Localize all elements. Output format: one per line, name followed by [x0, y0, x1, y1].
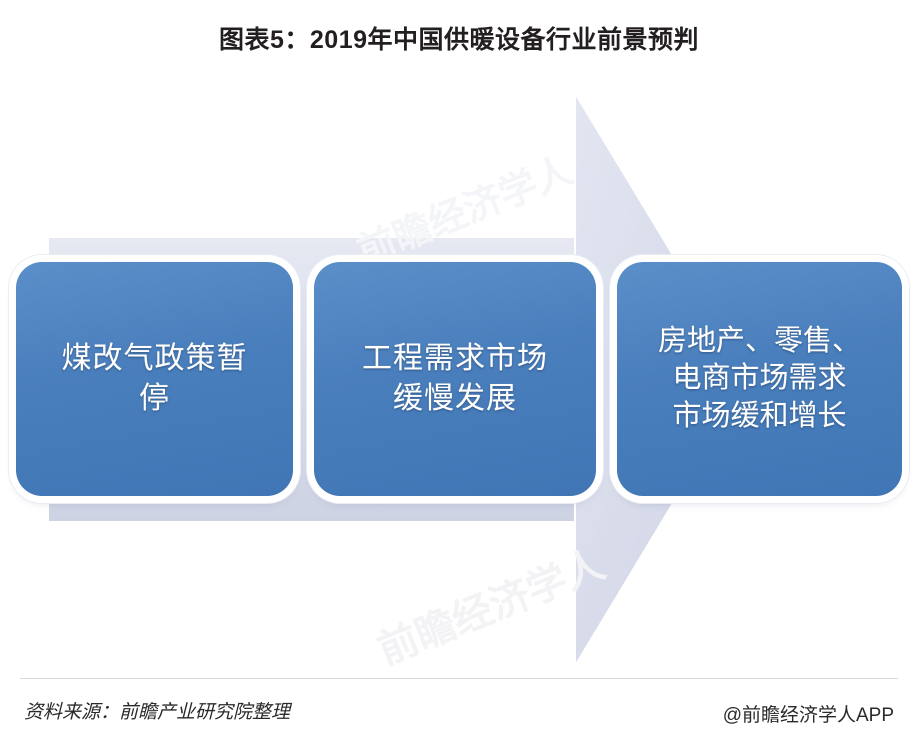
credit-note: @前瞻经济学人APP: [723, 700, 894, 727]
process-box-3[interactable]: 房地产、零售、 电商市场需求 市场缓和增长: [617, 262, 902, 496]
process-box-1[interactable]: 煤改气政策暂 停: [16, 262, 293, 496]
process-box-1-label: 煤改气政策暂 停: [62, 339, 248, 419]
process-box-row: 煤改气政策暂 停 工程需求市场 缓慢发展 房地产、零售、 电商市场需求 市场缓和…: [0, 262, 918, 496]
source-note: 资料来源：前瞻产业研究院整理: [24, 697, 290, 724]
process-box-3-label: 房地产、零售、 电商市场需求 市场缓和增长: [658, 323, 861, 434]
process-box-2[interactable]: 工程需求市场 缓慢发展: [314, 262, 596, 496]
footer-divider: [20, 678, 898, 679]
process-box-2-label: 工程需求市场 缓慢发展: [362, 339, 548, 419]
figure-canvas: 图表5：2019年中国供暖设备行业前景预判 前瞻经济学人 前瞻经济学人 煤改气政…: [0, 0, 918, 756]
